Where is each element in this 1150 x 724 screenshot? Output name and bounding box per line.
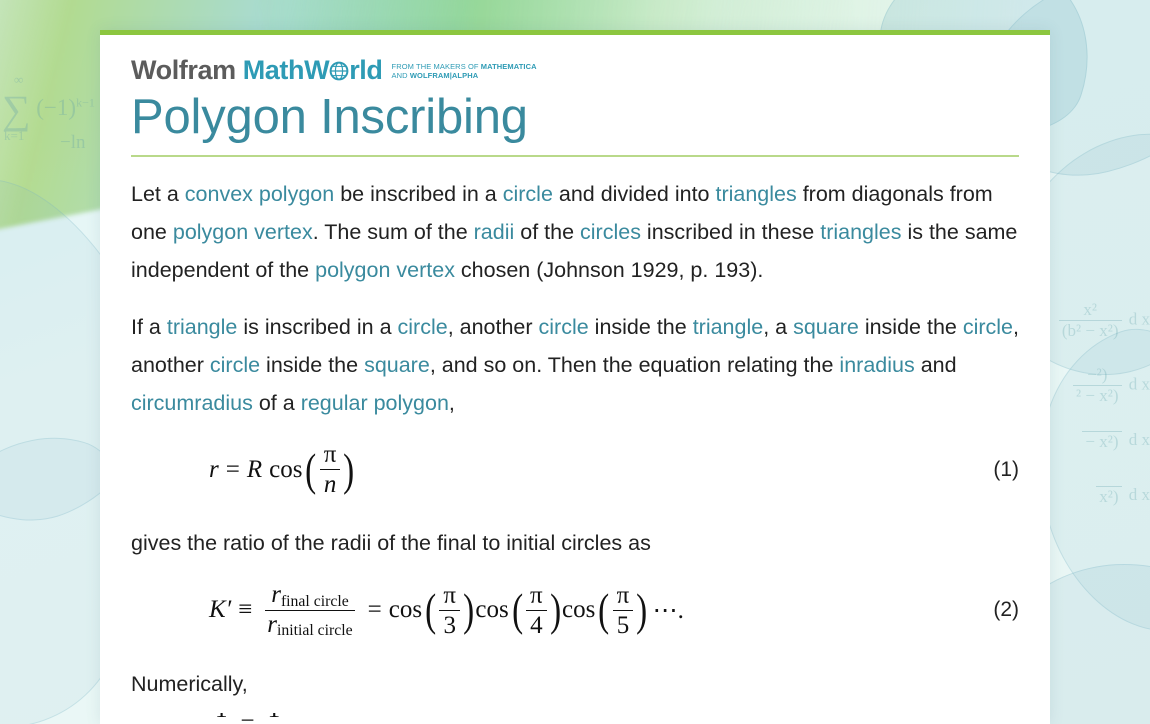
text-fragment: If a — [131, 315, 167, 339]
text-fragment: inscribed in these — [641, 220, 820, 244]
eq3-fraction-2: 1 2 — [264, 713, 285, 724]
text-fragment: , another — [448, 315, 539, 339]
eq2-denominator-3: 3 — [439, 611, 460, 639]
link-circle-d[interactable]: circle — [210, 353, 260, 377]
eq1-equals: = — [226, 456, 240, 484]
eq2-fraction-1: π 3 — [439, 582, 460, 639]
integral-dx: d x — [1129, 374, 1150, 393]
article-card: Wolfram MathW rld FROM THE MAKERS OF MA — [100, 30, 1050, 724]
eq3-equals: = — [241, 713, 255, 724]
eq1-cos-group: cos ( π n ) — [262, 441, 356, 498]
eq2-den-subscript: initial circle — [277, 622, 353, 639]
eq2-fraction-2: π 4 — [526, 582, 547, 639]
link-triangle[interactable]: triangle — [167, 315, 238, 339]
tagline-mathematica: MATHEMATICA — [481, 62, 537, 71]
link-circle-a[interactable]: circle — [398, 315, 448, 339]
logo-mathworld-suffix: rld — [349, 57, 382, 84]
link-inradius[interactable]: inradius — [839, 353, 914, 377]
eq1-numerator-pi: π — [320, 441, 341, 470]
eq2-numerator-pi-1: π — [439, 582, 460, 611]
integral-denominator: ² − x²) — [1073, 386, 1121, 406]
eq2-cos-label-1: cos — [389, 596, 422, 624]
eq1-paren-close: ) — [344, 452, 355, 488]
equation-2-body: K′ ≡ rfinal circle rinitial circle = cos… — [131, 581, 963, 639]
eq2-paren-open-3: ( — [598, 592, 609, 628]
text-fragment: be inscribed in a — [334, 182, 503, 206]
text-fragment: of a — [253, 391, 301, 415]
link-circles[interactable]: circles — [580, 220, 641, 244]
eq2-denominator-5: 5 — [613, 611, 634, 639]
eq3-fraction-1: 1 2 — [211, 713, 232, 724]
integral-fraction: x² (b² − x²) — [1059, 300, 1122, 341]
eq2-paren-close-2: ) — [550, 592, 561, 628]
eq1-denominator-n: n — [320, 470, 341, 498]
eq2-cos-group-1: cos ( π 3 ) — [389, 582, 476, 639]
title-divider — [131, 155, 1019, 157]
eq2-defines: ≡ — [238, 596, 252, 624]
eq2-ratio-denominator: rinitial circle — [261, 611, 358, 639]
integral-dx: d x — [1129, 309, 1150, 328]
eq2-prime: ′ — [226, 596, 231, 624]
background-formula-integral: x²) d x — [1093, 485, 1150, 507]
eq2-equals: = — [368, 596, 382, 624]
equation-1-body: r = R cos ( π n ) — [131, 441, 963, 498]
logo-wolfram-text: Wolfram — [131, 57, 236, 84]
text-fragment: and — [915, 353, 957, 377]
summation-term-exponent: k−1 — [76, 95, 95, 109]
equation-3-body-clipped: 1 2 = 1 2 — [131, 713, 963, 724]
paragraph-definition: Let a convex polygon be inscribed in a c… — [131, 175, 1019, 289]
text-fragment: Let a — [131, 182, 185, 206]
eq2-paren-close-1: ) — [463, 592, 474, 628]
eq1-lhs-r: r — [209, 456, 219, 484]
logo-mathworld-text: MathW rld — [243, 57, 383, 84]
eq2-numerator-pi-3: π — [613, 582, 634, 611]
integral-fraction: −²) ² − x²) — [1073, 365, 1121, 406]
equation-3-math-clipped: 1 2 = 1 2 — [209, 713, 286, 724]
site-logo[interactable]: Wolfram MathW rld FROM THE MAKERS OF MA — [131, 57, 1019, 84]
equation-2-math: K′ ≡ rfinal circle rinitial circle = cos… — [209, 581, 684, 639]
equation-1-math: r = R cos ( π n ) — [209, 441, 356, 498]
eq2-ellipsis-tail: ⋯. — [653, 595, 684, 625]
eq3-numerator-2: 1 — [264, 713, 285, 724]
eq2-numerator-pi-2: π — [526, 582, 547, 611]
link-convex-polygon[interactable]: convex polygon — [185, 182, 334, 206]
tagline-line-1-prefix: FROM THE MAKERS OF — [392, 62, 481, 71]
eq2-cos-group-3: cos ( π 5 ) — [562, 582, 649, 639]
summation-lower-limit: k=1 — [4, 128, 24, 144]
text-fragment: of the — [514, 220, 580, 244]
eq2-cos-group-2: cos ( π 4 ) — [475, 582, 562, 639]
link-triangles-2[interactable]: triangles — [820, 220, 901, 244]
background-formula-integral: − x²) d x — [1079, 430, 1150, 452]
link-triangles[interactable]: triangles — [715, 182, 796, 206]
link-circumradius[interactable]: circumradius — [131, 391, 253, 415]
eq2-num-subscript: final circle — [281, 593, 349, 610]
paragraph-ratio-lead-in: gives the ratio of the radii of the fina… — [131, 524, 1019, 562]
text-fragment: , — [449, 391, 455, 415]
integral-fraction: x²) — [1096, 486, 1121, 507]
eq1-capital-r: R — [247, 456, 262, 484]
eq2-cos-label-2: cos — [475, 596, 508, 624]
eq2-den-r: r — [267, 611, 277, 638]
summation-term: (−1) — [36, 95, 76, 120]
text-fragment: and divided into — [553, 182, 716, 206]
background-formula-ln: −ln — [60, 132, 86, 154]
integral-numerator: −²) — [1073, 365, 1121, 386]
link-circle-c[interactable]: circle — [963, 315, 1013, 339]
equation-2-row: K′ ≡ rfinal circle rinitial circle = cos… — [131, 581, 1019, 639]
logo-tagline: FROM THE MAKERS OF MATHEMATICA AND WOLFR… — [392, 63, 537, 84]
eq2-paren-close-3: ) — [636, 592, 647, 628]
background-formula-integral: x² (b² − x²) d x — [1056, 300, 1150, 341]
paragraph-inscribing-sequence: If a triangle is inscribed in a circle, … — [131, 308, 1019, 422]
globe-icon — [329, 61, 349, 81]
eq2-ratio-numerator: rfinal circle — [265, 581, 355, 610]
eq3-numerator-1: 1 — [211, 713, 232, 724]
text-fragment: . The sum of the — [313, 220, 474, 244]
text-fragment: inside the — [260, 353, 364, 377]
eq2-num-r: r — [271, 581, 281, 608]
eq1-fraction: π n — [320, 441, 341, 498]
link-polygon-vertex-2[interactable]: polygon vertex — [315, 258, 455, 282]
equation-1-number: (1) — [963, 458, 1019, 482]
eq1-cos-label: cos — [269, 456, 302, 484]
text-fragment: , a — [763, 315, 793, 339]
text-fragment: inside the — [859, 315, 963, 339]
integral-denominator: − x²) — [1082, 432, 1121, 452]
integral-numerator: x² — [1059, 300, 1122, 321]
page-title: Polygon Inscribing — [131, 90, 1019, 155]
tagline-line-2: AND WOLFRAM|ALPHA — [392, 72, 537, 81]
integral-denominator: (b² − x²) — [1059, 321, 1122, 341]
link-radii[interactable]: radii — [474, 220, 515, 244]
text-fragment: inside the — [589, 315, 693, 339]
eq1-paren-open: ( — [306, 452, 317, 488]
tagline-wolfram-alpha: WOLFRAM|ALPHA — [410, 71, 478, 80]
citation-johnson: chosen (Johnson 1929, p. 193). — [455, 258, 763, 282]
integral-dx: d x — [1129, 430, 1150, 449]
eq2-paren-open-1: ( — [425, 592, 436, 628]
paragraph-numerically: Numerically, — [131, 665, 1019, 703]
link-square[interactable]: square — [793, 315, 859, 339]
summation-sigma-icon: ∑ — [2, 87, 31, 132]
background-formula-summation: ∞ ∑ k=1 (−1)k−1 — [2, 86, 95, 133]
integral-denominator: x²) — [1096, 487, 1121, 507]
equation-2-number: (2) — [963, 598, 1019, 622]
eq2-denominator-4: 4 — [526, 611, 547, 639]
text-fragment: , and so on. Then the equation relating … — [430, 353, 840, 377]
eq2-fraction-3: π 5 — [613, 582, 634, 639]
link-circle[interactable]: circle — [503, 182, 553, 206]
tagline-line-2-prefix: AND — [392, 71, 410, 80]
logo-mathworld-prefix: MathW — [243, 57, 329, 84]
background-formula-integral: −²) ² − x²) d x — [1070, 365, 1150, 406]
equation-1-row: r = R cos ( π n ) (1) — [131, 441, 1019, 498]
link-triangle-b[interactable]: triangle — [693, 315, 764, 339]
integral-dx: d x — [1129, 485, 1150, 504]
summation-upper-limit: ∞ — [14, 72, 23, 88]
eq2-cos-label-3: cos — [562, 596, 595, 624]
link-circle-b[interactable]: circle — [539, 315, 589, 339]
link-polygon-vertex[interactable]: polygon vertex — [173, 220, 313, 244]
eq2-ratio-fraction: rfinal circle rinitial circle — [261, 581, 358, 639]
equation-3-row-clipped: 1 2 = 1 2 — [131, 713, 1019, 724]
integral-fraction: − x²) — [1082, 431, 1121, 452]
eq2-paren-open-2: ( — [512, 592, 523, 628]
link-regular-polygon[interactable]: regular polygon — [301, 391, 449, 415]
link-square-b[interactable]: square — [364, 353, 430, 377]
text-fragment: is inscribed in a — [237, 315, 397, 339]
eq2-K: K — [209, 596, 226, 624]
